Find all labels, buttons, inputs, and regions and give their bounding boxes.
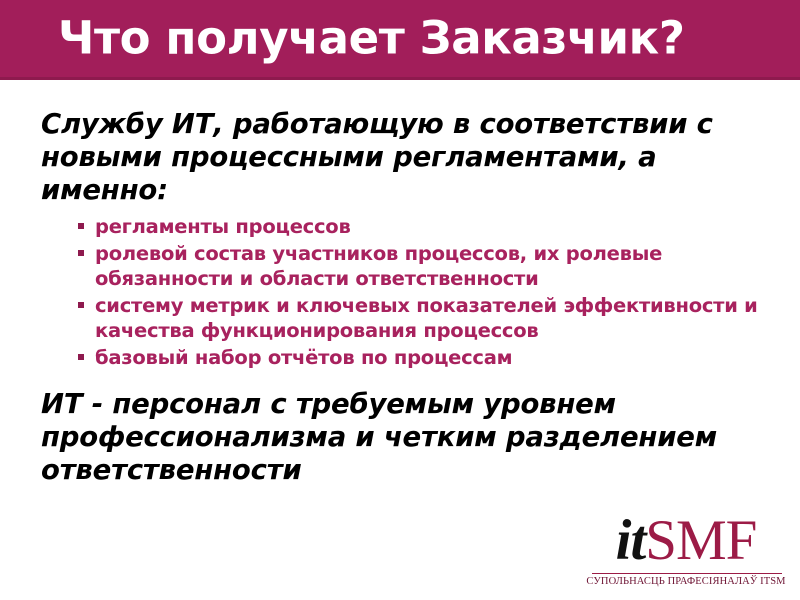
list-item: регламенты процессов (78, 214, 793, 239)
itsmf-logo: itSMF СУПОЛЬНАСЦЬ ПРАФЕСІЯНАЛАЎ ITSM (580, 512, 792, 590)
square-bullet-icon (78, 223, 84, 229)
slide-title: Что получает Заказчик? (58, 15, 685, 60)
logo-tagline: СУПОЛЬНАСЦЬ ПРАФЕСІЯНАЛАЎ ITSM (580, 576, 792, 587)
list-item-label: базовый набор отчётов по процессам (95, 346, 512, 369)
closing-paragraph: ИТ - персонал с требуемым уровнем профес… (41, 388, 741, 487)
logo-mark-text: SMF (645, 509, 756, 572)
square-bullet-icon (78, 302, 84, 308)
list-item-label: регламенты процессов (95, 215, 351, 238)
logo-prefix-text: it (616, 509, 646, 572)
list-item: ролевой состав участников процессов, их … (78, 241, 793, 291)
list-item-label: систему метрик и ключевых показателей эф… (95, 294, 758, 342)
square-bullet-icon (78, 354, 84, 360)
logo-wordmark: itSMF (580, 512, 792, 570)
list-item-label: ролевой состав участников процессов, их … (95, 242, 662, 290)
list-item: базовый набор отчётов по процессам (78, 345, 793, 370)
square-bullet-icon (78, 250, 84, 256)
logo-divider (592, 573, 782, 574)
slide: Что получает Заказчик? Службу ИТ, работа… (0, 0, 800, 600)
list-item: систему метрик и ключевых показателей эф… (78, 293, 793, 343)
lead-paragraph: Службу ИТ, работающую в соответствии с н… (41, 108, 741, 207)
bullet-list: регламенты процессов ролевой состав учас… (78, 214, 793, 372)
title-band: Что получает Заказчик? (0, 0, 800, 80)
